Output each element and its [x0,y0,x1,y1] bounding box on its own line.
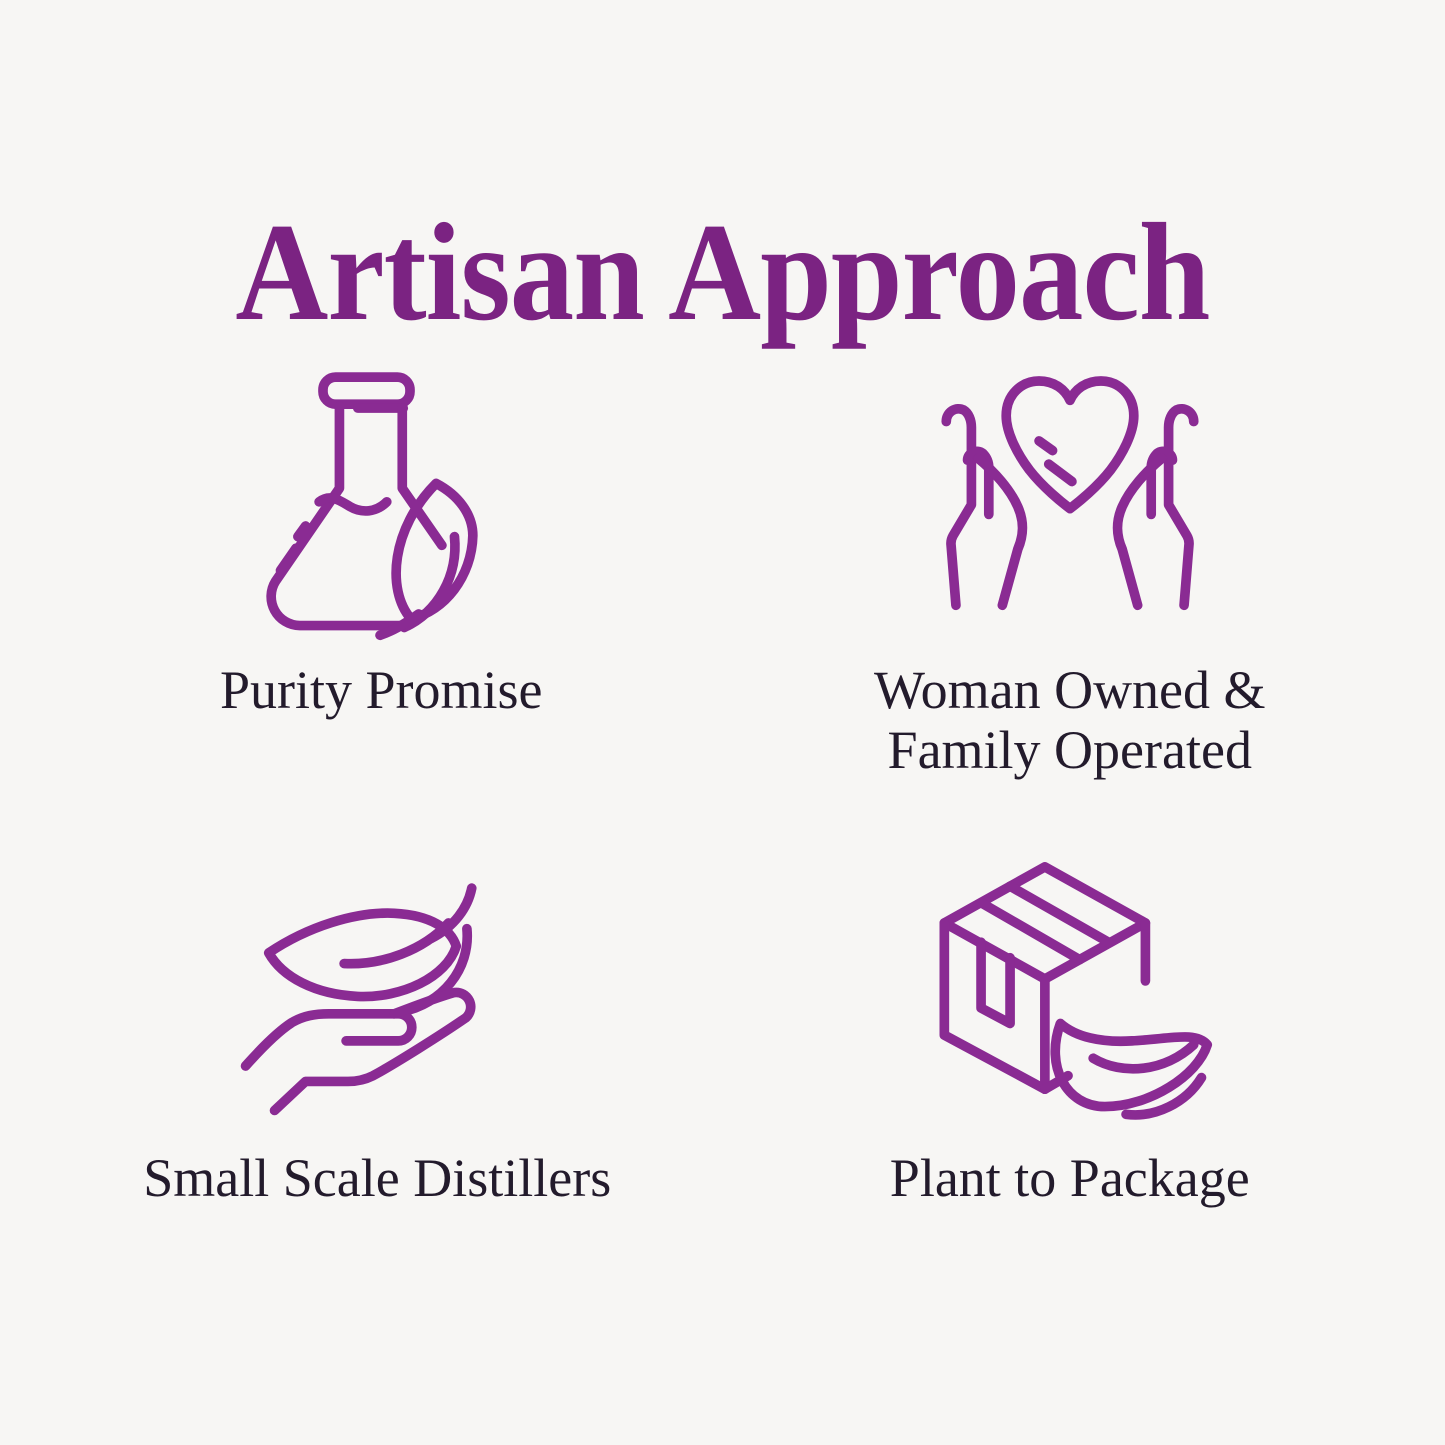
hand-holding-leaf-icon [227,834,527,1124]
feature-label-small-scale-distillers: Small Scale Distillers [143,1148,611,1208]
feature-item-woman-owned: Woman Owned & Family Operated [723,340,1386,810]
hands-holding-heart-icon [920,352,1220,642]
feature-grid: Purity Promise [60,340,1385,1280]
artisan-approach-graphic: Artisan Approach [0,0,1445,1445]
feature-item-plant-to-package: Plant to Package [723,810,1386,1280]
flask-leaf-icon [231,352,531,642]
feature-label-woman-owned: Woman Owned & Family Operated [874,660,1266,781]
feature-label-plant-to-package: Plant to Package [890,1148,1250,1208]
feature-item-small-scale-distillers: Small Scale Distillers [60,810,723,1280]
page-title: Artisan Approach [235,200,1209,346]
feature-item-purity-promise: Purity Promise [60,340,723,810]
feature-label-purity-promise: Purity Promise [220,660,543,720]
box-leaf-icon [920,834,1220,1124]
